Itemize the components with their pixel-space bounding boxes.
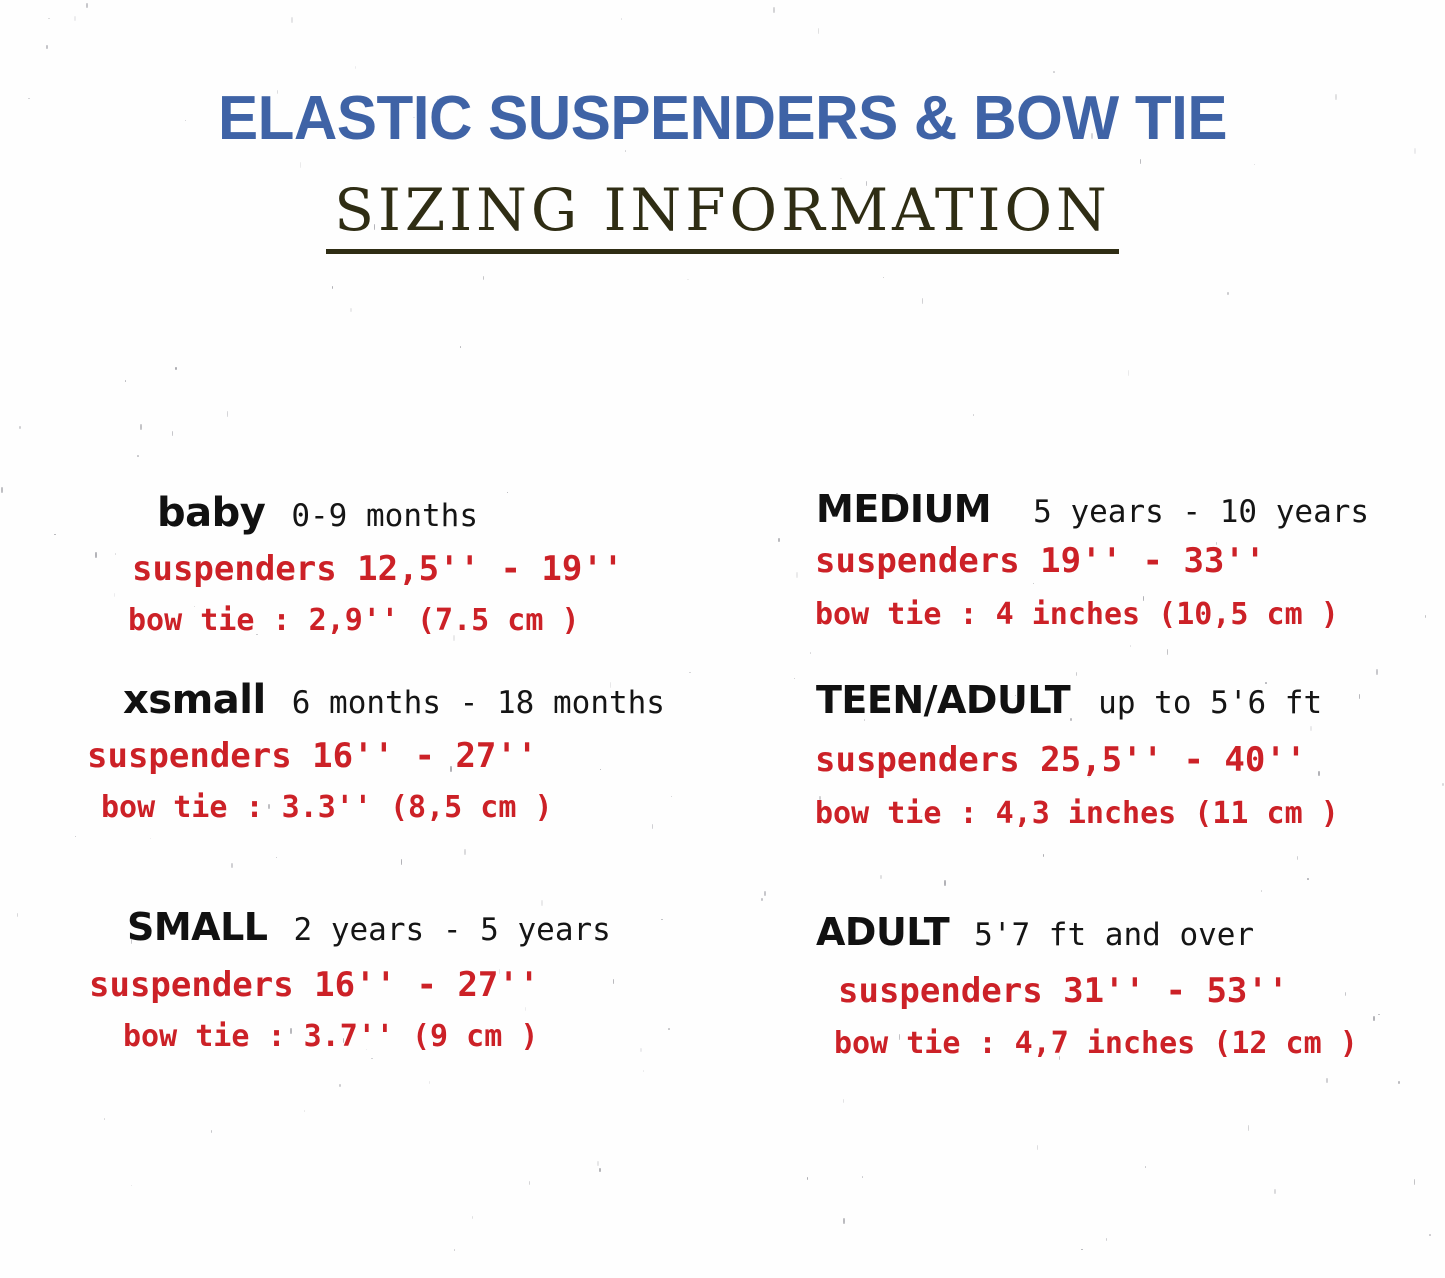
size-heading-row: MEDIUM 5 years - 10 years [816,490,1369,528]
bow-tie-measurement: bow tie : 4 inches (10,5 cm ) [815,600,1369,630]
size-heading-row: TEEN/ADULT up to 5'6 ft [816,681,1339,719]
page-title: ELASTIC SUSPENDERS & BOW TIE [22,88,1424,150]
age-range: 6 months - 18 months [292,688,665,719]
age-range: 5 years - 10 years [1033,497,1369,528]
page-subtitle: SIZING INFORMATION [326,181,1119,254]
size-block-small: SMALL 2 years - 5 years suspenders 16'' … [127,908,611,1052]
sizing-chart-sheet: ELASTIC SUSPENDERS & BOW TIE SIZING INFO… [0,0,1445,1278]
suspenders-measurement: suspenders 12,5'' - 19'' [132,552,623,586]
bow-tie-measurement: bow tie : 4,7 inches (12 cm ) [834,1029,1358,1059]
size-heading-row: ADULT 5'7 ft and over [816,913,1358,951]
suspenders-measurement: suspenders 25,5'' - 40'' [815,743,1339,777]
size-label: MEDIUM [816,490,991,528]
age-range: 0-9 months [291,501,478,532]
age-range: up to 5'6 ft [1098,688,1322,719]
size-label: baby [157,493,265,533]
bow-tie-measurement: bow tie : 3.3'' (8,5 cm ) [101,793,665,823]
size-heading-row: baby 0-9 months [157,493,623,533]
size-block-xsmall: xsmall 6 months - 18 months suspenders 1… [123,680,665,823]
size-label: SMALL [127,908,268,946]
suspenders-measurement: suspenders 16'' - 27'' [87,739,665,773]
size-block-adult: ADULT 5'7 ft and over suspenders 31'' - … [816,913,1358,1059]
bow-tie-measurement: bow tie : 4,3 inches (11 cm ) [815,799,1339,829]
suspenders-measurement: suspenders 16'' - 27'' [89,968,611,1002]
suspenders-measurement: suspenders 19'' - 33'' [815,544,1369,578]
bow-tie-measurement: bow tie : 2,9'' (7.5 cm ) [128,606,623,636]
size-label: xsmall [123,680,266,720]
suspenders-measurement: suspenders 31'' - 53'' [838,974,1358,1008]
size-heading-row: SMALL 2 years - 5 years [127,908,611,946]
age-range: 5'7 ft and over [974,920,1254,951]
size-label: TEEN/ADULT [816,681,1070,719]
size-block-teen-adult: TEEN/ADULT up to 5'6 ft suspenders 25,5'… [816,681,1339,829]
size-block-medium: MEDIUM 5 years - 10 years suspenders 19'… [816,490,1369,630]
size-label: ADULT [816,913,949,951]
bow-tie-measurement: bow tie : 3.7'' (9 cm ) [123,1022,611,1052]
age-range: 2 years - 5 years [294,915,611,946]
chart-header: ELASTIC SUSPENDERS & BOW TIE [0,88,1445,150]
chart-subheader: SIZING INFORMATION [0,181,1445,254]
size-block-baby: baby 0-9 months suspenders 12,5'' - 19''… [157,493,623,636]
size-heading-row: xsmall 6 months - 18 months [123,680,665,720]
